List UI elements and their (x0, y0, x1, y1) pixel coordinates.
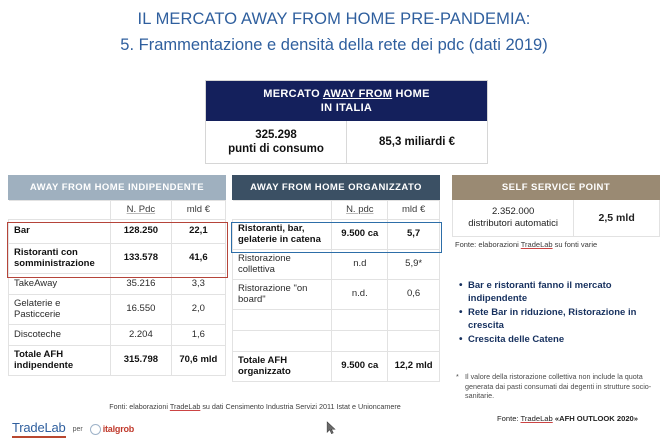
footnote-text: Il valore della ristorazione collettiva … (465, 372, 661, 401)
independent-row-4-label: Discoteche (9, 324, 111, 345)
key-findings-list: Bar e ristoranti fanno il mercato indipe… (455, 280, 660, 349)
mouse-cursor-icon (326, 421, 337, 435)
source-right: Fonte: TradeLab «AFH OUTLOOK 2020» (470, 414, 665, 423)
footer-logos: TradeLab per italgrob (12, 420, 134, 438)
organized-table: N. pdc mld € Ristoranti, bar, gelaterie … (232, 200, 440, 382)
self-service-machines-value: 2.352.000 (492, 206, 534, 218)
self-service-panel-header: SELF SERVICE POINT (452, 175, 660, 200)
organized-row-3-label (233, 309, 332, 330)
independent-col-mld: mld € (171, 201, 225, 220)
national-header-underlined: AWAY FROM (323, 88, 392, 100)
organized-total-pdc: 9.500 ca (332, 351, 388, 381)
national-market-value: 85,3 miliardi € (347, 121, 487, 163)
footnote-marker: * (456, 372, 465, 401)
independent-row-1-mld: 41,6 (171, 243, 225, 273)
independent-column-headers: N. Pdc mld € (9, 201, 226, 220)
organized-total-label: Totale AFH organizzato (233, 351, 332, 381)
organized-row-1-pdc: n.d (332, 249, 388, 279)
independent-row-1-pdc: 133.578 (110, 243, 171, 273)
tradelab-logo: TradeLab (12, 420, 66, 438)
logo-connector-label: per (73, 426, 83, 433)
self-service-source: Fonte: elaborazioni TradeLab su fonti va… (455, 240, 660, 249)
self-service-machines-label: distributori automatici (468, 218, 558, 230)
independent-row-4-pdc: 2.204 (110, 324, 171, 345)
list-item: Crescita delle Catene (468, 334, 660, 347)
organized-row-3-pdc (332, 309, 388, 330)
list-item: Rete Bar in riduzione, Ristorazione in c… (468, 307, 660, 332)
self-service-amount: 2,5 mld (574, 200, 659, 236)
independent-row-2-label: TakeAway (9, 273, 111, 294)
ring-icon (90, 424, 101, 435)
organized-row-4-pdc (332, 330, 388, 351)
independent-total-mld: 70,6 mld (171, 345, 225, 375)
organized-panel: AWAY FROM HOME ORGANIZZATO N. pdc mld € … (232, 175, 440, 382)
national-market-header: MERCATO AWAY FROM HOME IN ITALIA (206, 81, 487, 121)
organized-row-0-mld: 5,7 (388, 219, 440, 249)
organized-column-headers: N. pdc mld € (233, 201, 440, 220)
page-title: IL MERCATO AWAY FROM HOME PRE-PANDEMIA: … (0, 8, 668, 57)
independent-total-label: Totale AFH indipendente (9, 345, 111, 375)
independent-row-0-label: Bar (9, 219, 111, 243)
independent-table: N. Pdc mld € Bar 128.250 22,1 Ristoranti… (8, 200, 226, 376)
independent-row-0-pdc: 128.250 (110, 219, 171, 243)
organized-row-1-mld: 5,9* (388, 249, 440, 279)
organized-row-2-label: Ristorazione "on board" (233, 279, 332, 309)
organized-row-2-mld: 0,6 (388, 279, 440, 309)
independent-panel: AWAY FROM HOME INDIPENDENTE N. Pdc mld €… (8, 175, 226, 376)
national-market-box: MERCATO AWAY FROM HOME IN ITALIA 325.298… (205, 80, 488, 164)
list-item: Bar e ristoranti fanno il mercato indipe… (468, 280, 660, 305)
organized-col-blank (233, 201, 332, 220)
organized-total-mld: 12,2 mld (388, 351, 440, 381)
independent-panel-header: AWAY FROM HOME INDIPENDENTE (8, 175, 226, 200)
table-row: Bar 128.250 22,1 (9, 219, 226, 243)
organized-col-mld: mld € (388, 201, 440, 220)
table-row: Gelaterie e Pasticcerie 16.550 2,0 (9, 294, 226, 324)
independent-col-pdc: N. Pdc (110, 201, 171, 220)
organized-row-3-mld (388, 309, 440, 330)
independent-row-2-mld: 3,3 (171, 273, 225, 294)
organized-row-1-label: Ristorazione collettiva (233, 249, 332, 279)
independent-row-4-mld: 1,6 (171, 324, 225, 345)
organized-row-0-pdc: 9.500 ca (332, 219, 388, 249)
table-row: TakeAway 35.216 3,3 (9, 273, 226, 294)
independent-row-3-mld: 2,0 (171, 294, 225, 324)
table-row (233, 309, 440, 330)
organized-panel-header: AWAY FROM HOME ORGANIZZATO (232, 175, 440, 200)
national-consumption-points-label: punti di consumo (228, 142, 324, 156)
table-row: Totale AFH organizzato 9.500 ca 12,2 mld (233, 351, 440, 381)
table-row: Discoteche 2.204 1,6 (9, 324, 226, 345)
table-row (233, 330, 440, 351)
table-row: Ristoranti, bar, gelaterie in catena 9.5… (233, 219, 440, 249)
self-service-values: 2.352.000 distributori automatici 2,5 ml… (452, 200, 660, 237)
national-consumption-points-value: 325.298 (255, 128, 297, 142)
self-service-panel: SELF SERVICE POINT 2.352.000 distributor… (452, 175, 660, 237)
organized-row-4-label (233, 330, 332, 351)
organized-row-0-label: Ristoranti, bar, gelaterie in catena (233, 219, 332, 249)
national-header-part-b: HOME (392, 88, 430, 100)
italgrob-logo: italgrob (90, 424, 134, 435)
title-line-1: IL MERCATO AWAY FROM HOME PRE-PANDEMIA: (0, 8, 668, 30)
independent-row-2-pdc: 35.216 (110, 273, 171, 294)
footnote: * Il valore della ristorazione collettiv… (456, 372, 661, 401)
italgrob-logo-text: italgrob (103, 424, 134, 434)
table-row: Totale AFH indipendente 315.798 70,6 mld (9, 345, 226, 375)
organized-col-pdc: N. pdc (332, 201, 388, 220)
organized-row-4-mld (388, 330, 440, 351)
independent-total-pdc: 315.798 (110, 345, 171, 375)
independent-col-blank (9, 201, 111, 220)
independent-row-3-pdc: 16.550 (110, 294, 171, 324)
independent-row-3-label: Gelaterie e Pasticcerie (9, 294, 111, 324)
table-row: Ristorazione "on board" n.d. 0,6 (233, 279, 440, 309)
self-service-machines: 2.352.000 distributori automatici (453, 200, 574, 236)
title-line-2: 5. Frammentazione e densità della rete d… (0, 33, 668, 57)
national-market-value-amount: 85,3 miliardi € (379, 135, 455, 149)
independent-row-1-label: Ristoranti con somministrazione (9, 243, 111, 273)
national-header-part-a: MERCATO (263, 88, 323, 100)
table-row: Ristoranti con somministrazione 133.578 … (9, 243, 226, 273)
independent-row-0-mld: 22,1 (171, 219, 225, 243)
organized-row-2-pdc: n.d. (332, 279, 388, 309)
table-row: Ristorazione collettiva n.d 5,9* (233, 249, 440, 279)
slide-canvas: IL MERCATO AWAY FROM HOME PRE-PANDEMIA: … (0, 0, 668, 440)
national-consumption-points: 325.298 punti di consumo (206, 121, 347, 163)
national-header-line-2: IN ITALIA (206, 101, 487, 115)
national-market-values: 325.298 punti di consumo 85,3 miliardi € (206, 121, 487, 163)
source-bottom: Fonti: elaborazioni TradeLab su dati Cen… (60, 402, 450, 411)
